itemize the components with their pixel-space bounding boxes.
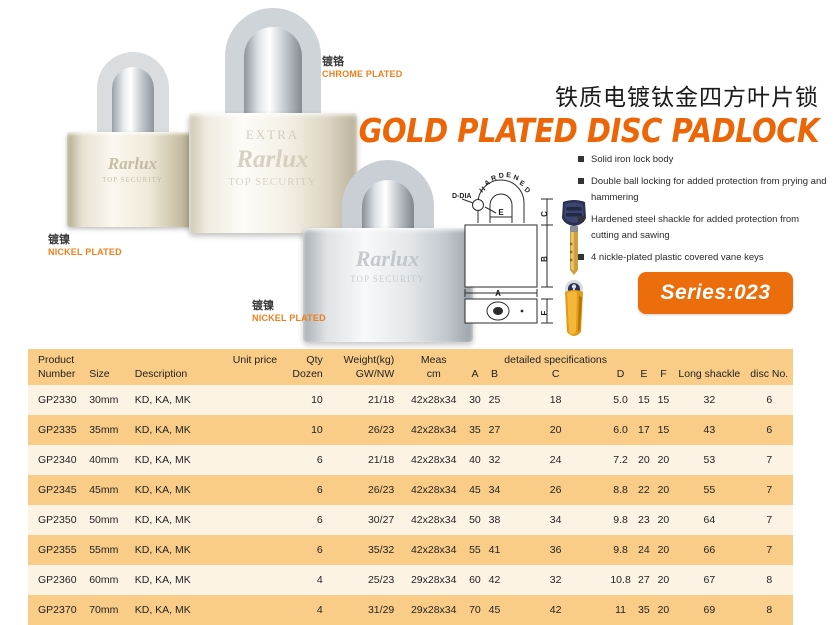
cell-disc-no: 7	[745, 475, 793, 505]
cell-description: KD, KA, MK	[131, 475, 227, 505]
cell-d: 8.8	[607, 475, 634, 505]
col-header-c-label: C	[504, 367, 607, 381]
cell-d: 9.8	[607, 505, 634, 535]
cell-d: 6.0	[607, 415, 634, 445]
padlock-nickel-small: Rarlux TOP SECURITY	[60, 52, 205, 227]
col-header-meas-l1: Meas	[402, 353, 465, 367]
series-badge: Series:023	[638, 272, 793, 314]
cell-f: 20	[654, 565, 674, 595]
cell-unit-price	[227, 475, 283, 505]
callout-chrome-plated: 镀铬 CHROME PLATED	[322, 55, 402, 80]
cell-weight: 30/27	[333, 505, 403, 535]
bullet-square-icon	[578, 216, 584, 222]
dim-label-d-dia: D-DIA	[452, 193, 471, 200]
cell-c: 34	[504, 505, 607, 535]
cell-b: 34	[485, 475, 505, 505]
cell-b: 45	[485, 595, 505, 625]
cell-a: 50	[465, 505, 485, 535]
col-header-size: Size	[89, 349, 131, 385]
cell-d: 5.0	[607, 385, 634, 415]
col-header-d-label: D	[607, 367, 634, 381]
col-header-product-number: Product Number	[28, 349, 89, 385]
dim-label-c: C	[540, 211, 549, 217]
cell-weight: 21/18	[333, 385, 403, 415]
cell-f: 20	[654, 595, 674, 625]
cell-size: 40mm	[89, 445, 131, 475]
feature-text: Solid iron lock body	[591, 152, 673, 168]
cell-f: 20	[654, 505, 674, 535]
cell-qty-dozen: 10	[283, 385, 333, 415]
table-header: Product Number Size Description	[28, 349, 793, 385]
callout-label-en: NICKEL PLATED	[48, 247, 122, 258]
cell-description: KD, KA, MK	[131, 415, 227, 445]
cell-qty-dozen: 6	[283, 535, 333, 565]
svg-text:E: E	[506, 172, 512, 179]
cell-meas: 29x28x34	[402, 595, 465, 625]
cell-weight: 21/18	[333, 445, 403, 475]
col-header-weight: Weight(kg) GW/NW	[333, 349, 403, 385]
cell-weight: 26/23	[333, 415, 403, 445]
cell-b: 25	[485, 385, 505, 415]
cell-unit-price	[227, 415, 283, 445]
table-row: GP236060mmKD, KA, MK425/2329x28x34604232…	[28, 565, 793, 595]
cell-size: 50mm	[89, 505, 131, 535]
cell-c: 18	[504, 385, 607, 415]
cell-weight: 25/23	[333, 565, 403, 595]
table-row: GP235555mmKD, KA, MK635/3242x28x34554136…	[28, 535, 793, 565]
callout-label-cn: 镀铬	[322, 55, 402, 69]
col-header-b: B	[485, 349, 505, 385]
feature-text: Double ball locking for added protection…	[591, 174, 828, 206]
feature-text: Hardened steel shackle for added protect…	[591, 212, 828, 244]
cell-unit-price	[227, 385, 283, 415]
cell-description: KD, KA, MK	[131, 595, 227, 625]
cell-qty-dozen: 10	[283, 415, 333, 445]
col-header-e: E	[634, 349, 654, 385]
cell-description: KD, KA, MK	[131, 445, 227, 475]
cell-unit-price	[227, 595, 283, 625]
cell-e: 20	[634, 445, 654, 475]
dim-label-a: A	[495, 289, 501, 298]
cell-f: 20	[654, 535, 674, 565]
col-header-d: D	[607, 349, 634, 385]
col-header-weight-l2: GW/NW	[333, 367, 395, 381]
cell-qty-dozen: 4	[283, 595, 333, 625]
cell-e: 27	[634, 565, 654, 595]
cell-d: 9.8	[607, 535, 634, 565]
cell-disc-no: 7	[745, 445, 793, 475]
cell-meas: 42x28x34	[402, 415, 465, 445]
col-header-qty-l1: Qty	[283, 353, 323, 367]
cell-disc-no: 7	[745, 535, 793, 565]
feature-item: Double ball locking for added protection…	[578, 174, 828, 206]
cell-meas: 42x28x34	[402, 385, 465, 415]
callout-nickel-plated-center: 镀镍 NICKEL PLATED	[252, 299, 326, 324]
col-header-c: detailed specifications C	[504, 349, 607, 385]
cell-f: 20	[654, 445, 674, 475]
cell-e: 23	[634, 505, 654, 535]
cell-meas: 42x28x34	[402, 445, 465, 475]
cell-f: 20	[654, 475, 674, 505]
table-row: GP233535mmKD, KA, MK1026/2342x28x3435272…	[28, 415, 793, 445]
col-header-f: F	[654, 349, 674, 385]
lock-body: Rarlux TOP SECURITY	[303, 228, 473, 342]
callout-label-cn: 镀镍	[252, 299, 326, 313]
feature-item: Solid iron lock body	[578, 152, 828, 168]
cell-e: 24	[634, 535, 654, 565]
svg-text:R: R	[490, 175, 497, 183]
page-title-cn: 铁质电镀钛金四方叶片锁	[555, 78, 819, 112]
cell-unit-price	[227, 565, 283, 595]
col-header-a-label: A	[465, 367, 485, 381]
cell-long-shackle: 53	[673, 445, 745, 475]
col-header-a: A	[465, 349, 485, 385]
callout-nickel-plated-left: 镀镍 NICKEL PLATED	[48, 233, 122, 258]
padlock-nickel-large: Rarlux TOP SECURITY	[300, 160, 475, 342]
cell-size: 45mm	[89, 475, 131, 505]
cell-disc-no: 7	[745, 505, 793, 535]
cell-unit-price	[227, 445, 283, 475]
col-header-meas: Meas cm	[402, 349, 465, 385]
cell-b: 42	[485, 565, 505, 595]
cell-b: 41	[485, 535, 505, 565]
cell-product-number: GP2355	[28, 535, 89, 565]
col-header-qty-dozen: Qty Dozen	[283, 349, 333, 385]
brand-name: Rarlux	[303, 246, 473, 272]
cell-disc-no: 8	[745, 565, 793, 595]
col-header-product-number-l1: Product	[38, 353, 89, 367]
cell-weight: 35/32	[333, 535, 403, 565]
cell-meas: 42x28x34	[402, 475, 465, 505]
svg-text:N: N	[512, 174, 519, 182]
table-body: GP233030mmKD, KA, MK1021/1842x28x3430251…	[28, 385, 793, 625]
table-row: GP234545mmKD, KA, MK626/2342x28x34453426…	[28, 475, 793, 505]
cell-size: 35mm	[89, 415, 131, 445]
cell-a: 30	[465, 385, 485, 415]
brand-sub: TOP SECURITY	[67, 176, 199, 184]
page-title-en: GOLD PLATED DISC PADLOCK	[359, 112, 819, 150]
col-header-e-label: E	[634, 367, 654, 381]
catalog-page: Rarlux TOP SECURITY EXTRA Rarlux TOP SEC…	[0, 0, 837, 619]
cell-d: 11	[607, 595, 634, 625]
cell-disc-no: 6	[745, 415, 793, 445]
cell-c: 42	[504, 595, 607, 625]
cell-disc-no: 6	[745, 385, 793, 415]
cell-d: 10.8	[607, 565, 634, 595]
col-header-disc-no: disc No.	[745, 349, 793, 385]
col-header-description-label: Description	[135, 367, 227, 381]
col-header-f-label: F	[654, 367, 674, 381]
cell-c: 36	[504, 535, 607, 565]
dim-label-e: E	[498, 208, 504, 217]
cell-b: 32	[485, 445, 505, 475]
table-row: GP235050mmKD, KA, MK630/2742x28x34503834…	[28, 505, 793, 535]
cell-long-shackle: 32	[673, 385, 745, 415]
brand-name: Rarlux	[67, 154, 199, 174]
cell-weight: 26/23	[333, 475, 403, 505]
cell-qty-dozen: 6	[283, 445, 333, 475]
cell-weight: 31/29	[333, 595, 403, 625]
cell-c: 26	[504, 475, 607, 505]
feature-text: 4 nickle-plated plastic covered vane key…	[591, 250, 764, 266]
dim-label-b: B	[540, 256, 549, 262]
cell-b: 38	[485, 505, 505, 535]
cell-a: 55	[465, 535, 485, 565]
specification-table: Product Number Size Description	[28, 349, 793, 625]
shackle	[342, 160, 434, 238]
cell-product-number: GP2370	[28, 595, 89, 625]
cell-qty-dozen: 4	[283, 565, 333, 595]
cell-a: 40	[465, 445, 485, 475]
cell-a: 45	[465, 475, 485, 505]
dim-label-f: F	[540, 310, 549, 315]
col-header-product-number-l2: Number	[38, 367, 89, 381]
shackle	[97, 52, 169, 138]
col-header-qty-l2: Dozen	[283, 367, 323, 381]
cell-long-shackle: 66	[673, 535, 745, 565]
col-header-disc-no-label: disc No.	[745, 367, 793, 381]
cell-description: KD, KA, MK	[131, 505, 227, 535]
cell-meas: 42x28x34	[402, 505, 465, 535]
cell-e: 35	[634, 595, 654, 625]
feature-item: Hardened steel shackle for added protect…	[578, 212, 828, 244]
cell-description: KD, KA, MK	[131, 535, 227, 565]
cell-product-number: GP2350	[28, 505, 89, 535]
lock-body: Rarlux TOP SECURITY	[67, 132, 199, 227]
table-row: GP233030mmKD, KA, MK1021/1842x28x3430251…	[28, 385, 793, 415]
col-header-weight-l1: Weight(kg)	[333, 353, 395, 367]
cell-a: 70	[465, 595, 485, 625]
cell-f: 15	[654, 415, 674, 445]
cell-meas: 42x28x34	[402, 535, 465, 565]
svg-text:D: D	[523, 186, 531, 195]
cell-c: 20	[504, 415, 607, 445]
cell-description: KD, KA, MK	[131, 385, 227, 415]
cell-long-shackle: 64	[673, 505, 745, 535]
shackle	[225, 8, 321, 126]
cell-f: 15	[654, 385, 674, 415]
brand-sub: TOP SECURITY	[303, 274, 473, 284]
table-header-row: Product Number Size Description	[28, 349, 793, 385]
cell-e: 22	[634, 475, 654, 505]
cell-size: 30mm	[89, 385, 131, 415]
cell-long-shackle: 67	[673, 565, 745, 595]
cell-disc-no: 8	[745, 595, 793, 625]
col-header-description: Description	[131, 349, 227, 385]
cell-c: 32	[504, 565, 607, 595]
cell-c: 24	[504, 445, 607, 475]
col-header-long-shackle-label: Long shackle	[673, 367, 745, 381]
hardened-arc-label: H A R D E N E D	[479, 172, 531, 195]
group-header-detailed-specifications: detailed specifications	[504, 353, 607, 367]
callout-label-en: NICKEL PLATED	[252, 313, 326, 324]
cell-product-number: GP2330	[28, 385, 89, 415]
feature-list: Solid iron lock body Double ball locking…	[578, 152, 828, 272]
col-header-long-shackle: Long shackle	[673, 349, 745, 385]
feature-item: 4 nickle-plated plastic covered vane key…	[578, 250, 828, 266]
callout-label-cn: 镀镍	[48, 233, 122, 247]
cell-e: 17	[634, 415, 654, 445]
svg-text:D: D	[498, 172, 504, 179]
col-header-unit-price-label: Unit price	[227, 353, 283, 367]
bullet-square-icon	[578, 178, 584, 184]
cell-qty-dozen: 6	[283, 475, 333, 505]
bullet-square-icon	[578, 254, 584, 260]
cell-long-shackle: 55	[673, 475, 745, 505]
table-row: GP237070mmKD, KA, MK431/2929x28x34704542…	[28, 595, 793, 625]
key-closeup	[565, 280, 583, 336]
cell-long-shackle: 69	[673, 595, 745, 625]
cell-a: 35	[465, 415, 485, 445]
cell-qty-dozen: 6	[283, 505, 333, 535]
cell-size: 55mm	[89, 535, 131, 565]
cell-unit-price	[227, 535, 283, 565]
cell-b: 27	[485, 415, 505, 445]
table-row: GP234040mmKD, KA, MK621/1842x28x34403224…	[28, 445, 793, 475]
cell-product-number: GP2345	[28, 475, 89, 505]
bullet-square-icon	[578, 156, 584, 162]
cell-description: KD, KA, MK	[131, 565, 227, 595]
callout-label-en: CHROME PLATED	[322, 69, 402, 80]
col-header-meas-l2: cm	[402, 367, 465, 381]
cell-product-number: GP2340	[28, 445, 89, 475]
cell-d: 7.2	[607, 445, 634, 475]
svg-text:E: E	[518, 180, 526, 189]
col-header-unit-price: Unit price	[227, 349, 283, 385]
cell-a: 60	[465, 565, 485, 595]
cell-unit-price	[227, 505, 283, 535]
cell-meas: 29x28x34	[402, 565, 465, 595]
cell-long-shackle: 43	[673, 415, 745, 445]
cell-size: 60mm	[89, 565, 131, 595]
col-header-size-label: Size	[89, 367, 131, 381]
cell-e: 15	[634, 385, 654, 415]
col-header-b-label: B	[485, 367, 505, 381]
cell-size: 70mm	[89, 595, 131, 625]
cell-product-number: GP2335	[28, 415, 89, 445]
brand-extra: EXTRA	[189, 127, 357, 143]
cell-product-number: GP2360	[28, 565, 89, 595]
